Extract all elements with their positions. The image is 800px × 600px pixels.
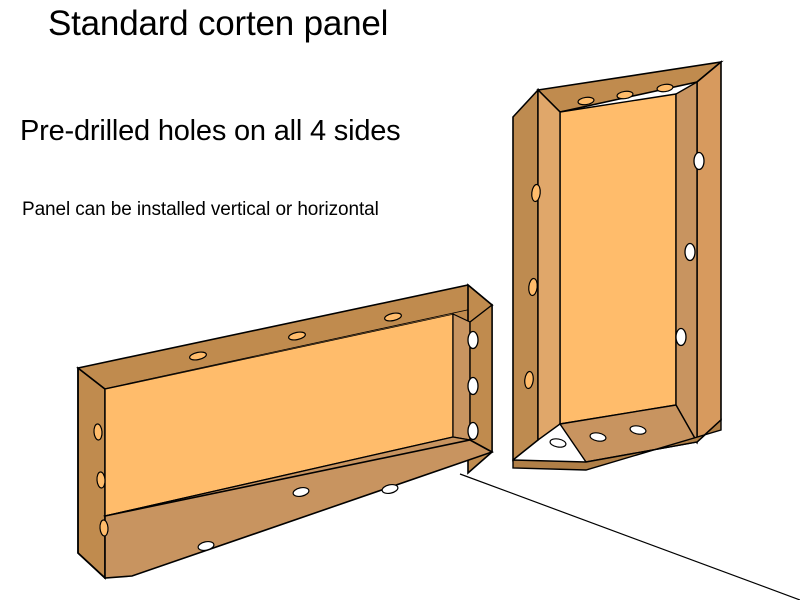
vertical-panel-left-end-face — [513, 90, 538, 460]
hole-horizontal-right-2 — [468, 378, 478, 395]
vertical-panel-right-outer-face — [697, 62, 721, 442]
hole-horizontal-right-3 — [468, 423, 478, 440]
hole-vertical-right-2 — [685, 244, 695, 261]
hole-horizontal-right-1 — [468, 332, 478, 349]
hole-vertical-right-1 — [694, 153, 704, 170]
panel-illustration — [0, 0, 800, 600]
hole-vertical-bottom-1 — [549, 438, 566, 449]
ground-line — [460, 474, 800, 600]
horizontal-panel — [78, 285, 492, 578]
slide-canvas: Standard corten panel Pre-drilled holes … — [0, 0, 800, 600]
vertical-panel-left-inner-return — [538, 90, 560, 440]
horizontal-panel-right-inner-return — [453, 314, 470, 440]
hole-vertical-right-3 — [676, 329, 686, 346]
vertical-panel-inner-face — [560, 94, 676, 424]
vertical-panel-right-inner-return — [676, 82, 697, 442]
vertical-panel — [513, 62, 721, 470]
